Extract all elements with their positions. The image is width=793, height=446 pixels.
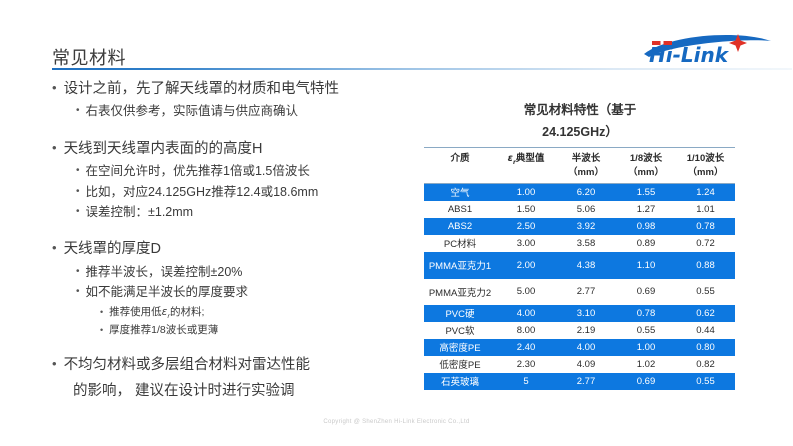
bullet-reference-table: • 右表仅供参考，实际值请与供应商确认 xyxy=(76,102,412,121)
col-header-eighth-wavelength-unit: （mm） xyxy=(628,167,664,178)
table-row: PVC软8.002.190.550.44 xyxy=(424,322,735,339)
bullet-dot-icon: • xyxy=(76,106,80,116)
bullet-dot-icon: • xyxy=(52,81,57,94)
cell-eighth-wavelength: 1.00 xyxy=(616,339,676,356)
col-header-tenth-wavelength-unit: （mm） xyxy=(688,167,724,178)
page-title: 常见材料 xyxy=(52,44,126,70)
spacer xyxy=(52,339,412,354)
col-header-eighth-wavelength: 1/8波长 （mm） xyxy=(616,148,676,184)
table-row: PMMA亚克力25.002.770.690.55 xyxy=(424,279,735,305)
copyright-footer: Copyright @ ShenZhen Hi-Link Electronic … xyxy=(0,419,793,425)
bullet-eighth-wavelength: • 厚度推荐1/8波长或更薄 xyxy=(100,322,412,338)
col-header-tenth-wavelength-label: 1/10波长 xyxy=(687,153,725,164)
cell-eighth-wavelength: 0.69 xyxy=(616,373,676,390)
table-row: 高密度PE2.404.001.000.80 xyxy=(424,339,735,356)
material-properties-table: 介质 εr典型值 半波长 （mm） 1/8波长 （mm） 1/10波长 （mm）… xyxy=(424,147,735,390)
cell-tenth-wavelength: 1.24 xyxy=(676,183,735,201)
title-underline-rule xyxy=(52,68,792,70)
cell-half-wavelength: 3.10 xyxy=(556,305,616,322)
bullet-low-er-material: • 推荐使用低εr的材料; xyxy=(100,304,412,321)
col-header-eighth-wavelength-label: 1/8波长 xyxy=(630,153,662,164)
slide: 常见材料 Hi-Link • 设计之前，先了解天线罩的材质和电气特性 • 右表仅… xyxy=(0,0,793,446)
cell-er: 1.00 xyxy=(496,183,556,201)
cell-er: 2.40 xyxy=(496,339,556,356)
low-er-suffix: 的材料; xyxy=(170,306,204,318)
cell-half-wavelength: 6.20 xyxy=(556,183,616,201)
cell-eighth-wavelength: 0.55 xyxy=(616,322,676,339)
cell-er: 4.00 xyxy=(496,305,556,322)
col-header-half-wavelength-unit: （mm） xyxy=(568,167,604,178)
spacer xyxy=(52,223,412,238)
bullet-dot-icon: • xyxy=(76,187,80,197)
cell-material-name: 高密度PE xyxy=(424,339,496,356)
cell-tenth-wavelength: 0.82 xyxy=(676,356,735,373)
bullet-nonuniform-material-line2: 的影响， 建议在设计时进行实验调 xyxy=(73,379,412,404)
col-header-medium: 介质 xyxy=(424,148,496,184)
cell-material-name: PMMA亚克力2 xyxy=(424,279,496,305)
col-header-er-label: 典型值 xyxy=(516,153,545,164)
col-header-er: εr典型值 xyxy=(496,148,556,184)
bullet-design-intro: • 设计之前，先了解天线罩的材质和电气特性 xyxy=(52,78,412,100)
cell-eighth-wavelength: 1.02 xyxy=(616,356,676,373)
cell-eighth-wavelength: 0.78 xyxy=(616,305,676,322)
cell-half-wavelength: 3.92 xyxy=(556,218,616,235)
spacer xyxy=(52,123,412,138)
cell-tenth-wavelength: 1.01 xyxy=(676,201,735,218)
table-row: PVC硬4.003.100.780.62 xyxy=(424,305,735,322)
bullet-half-wavelength: • 推荐半波长，误差控制±20% xyxy=(76,263,412,282)
epsilon-r-symbol: εr xyxy=(162,306,170,318)
bullet-height-h: • 天线到天线罩内表面的的高度H xyxy=(52,138,412,160)
cell-material-name: PC材料 xyxy=(424,235,496,252)
bullet-freq-example: • 比如，对应24.125GHz推荐12.4或18.6mm xyxy=(76,183,412,202)
cell-eighth-wavelength: 0.89 xyxy=(616,235,676,252)
bullet-dot-icon: • xyxy=(100,326,103,335)
bullet-dot-icon: • xyxy=(76,287,80,297)
cell-material-name: PVC硬 xyxy=(424,305,496,322)
epsilon-r-symbol: εr xyxy=(508,153,516,164)
cell-material-name: PVC软 xyxy=(424,322,496,339)
table-row: 低密度PE2.304.091.020.82 xyxy=(424,356,735,373)
bullet-dot-icon: • xyxy=(76,207,80,217)
cell-tenth-wavelength: 0.55 xyxy=(676,373,735,390)
cell-material-name: PMMA亚克力1 xyxy=(424,252,496,279)
cell-material-name: 低密度PE xyxy=(424,356,496,373)
cell-material-name: ABS2 xyxy=(424,218,496,235)
bullet-dot-icon: • xyxy=(76,166,80,176)
content-body: • 设计之前，先了解天线罩的材质和电气特性 • 右表仅供参考，实际值请与供应商确… xyxy=(52,78,412,403)
bullet-cannot-meet: • 如不能满足半波长的厚度要求 xyxy=(76,283,412,302)
bullet-space-allows: • 在空间允许时，优先推荐1倍或1.5倍波长 xyxy=(76,162,412,181)
bullet-dot-icon: • xyxy=(76,267,80,277)
table-title: 常见材料特性（基于 24.125GHz） xyxy=(424,100,736,144)
table-row: ABS11.505.061.271.01 xyxy=(424,201,735,218)
cell-material-name: ABS1 xyxy=(424,201,496,218)
table-row: PMMA亚克力12.004.381.100.88 xyxy=(424,252,735,279)
cell-half-wavelength: 2.77 xyxy=(556,373,616,390)
col-header-half-wavelength: 半波长 （mm） xyxy=(556,148,616,184)
cell-tenth-wavelength: 0.80 xyxy=(676,339,735,356)
table-title-line2: 24.125GHz） xyxy=(424,122,736,144)
bullet-dot-icon: • xyxy=(52,141,57,154)
low-er-prefix: 推荐使用低 xyxy=(109,306,162,318)
cell-material-name: 石英玻璃 xyxy=(424,373,496,390)
table-body: 空气1.006.201.551.24ABS11.505.061.271.01AB… xyxy=(424,183,735,390)
cell-half-wavelength: 2.77 xyxy=(556,279,616,305)
bullet-tolerance: • 误差控制：±1.2mm xyxy=(76,203,412,222)
cell-material-name: 空气 xyxy=(424,183,496,201)
cell-half-wavelength: 4.09 xyxy=(556,356,616,373)
bullet-nonuniform-material: • 不均匀材料或多层组合材料对雷达性能 xyxy=(52,354,412,376)
table-row: PC材料3.003.580.890.72 xyxy=(424,235,735,252)
cell-tenth-wavelength: 0.62 xyxy=(676,305,735,322)
cell-eighth-wavelength: 1.27 xyxy=(616,201,676,218)
cell-tenth-wavelength: 0.55 xyxy=(676,279,735,305)
bullet-dot-icon: • xyxy=(100,308,103,317)
cell-eighth-wavelength: 0.69 xyxy=(616,279,676,305)
cell-er: 5.00 xyxy=(496,279,556,305)
table-row: 空气1.006.201.551.24 xyxy=(424,183,735,201)
col-header-half-wavelength-label: 半波长 xyxy=(572,153,601,164)
hi-link-logo: Hi-Link xyxy=(640,31,775,65)
col-header-tenth-wavelength: 1/10波长 （mm） xyxy=(676,148,735,184)
cell-tenth-wavelength: 0.72 xyxy=(676,235,735,252)
cell-er: 8.00 xyxy=(496,322,556,339)
cell-er: 2.50 xyxy=(496,218,556,235)
cell-eighth-wavelength: 1.55 xyxy=(616,183,676,201)
cell-half-wavelength: 3.58 xyxy=(556,235,616,252)
cell-tenth-wavelength: 0.78 xyxy=(676,218,735,235)
bullet-dot-icon: • xyxy=(52,241,57,254)
cell-tenth-wavelength: 0.88 xyxy=(676,252,735,279)
cell-half-wavelength: 4.00 xyxy=(556,339,616,356)
cell-eighth-wavelength: 1.10 xyxy=(616,252,676,279)
cell-er: 1.50 xyxy=(496,201,556,218)
cell-er: 3.00 xyxy=(496,235,556,252)
cell-tenth-wavelength: 0.44 xyxy=(676,322,735,339)
cell-er: 5 xyxy=(496,373,556,390)
bullet-dot-icon: • xyxy=(52,357,57,370)
svg-text:Hi-Link: Hi-Link xyxy=(649,43,730,65)
cell-er: 2.30 xyxy=(496,356,556,373)
cell-eighth-wavelength: 0.98 xyxy=(616,218,676,235)
cell-half-wavelength: 2.19 xyxy=(556,322,616,339)
table-row: 石英玻璃52.770.690.55 xyxy=(424,373,735,390)
bullet-thickness-d: • 天线罩的厚度D xyxy=(52,238,412,260)
table-row: ABS22.503.920.980.78 xyxy=(424,218,735,235)
cell-half-wavelength: 5.06 xyxy=(556,201,616,218)
cell-half-wavelength: 4.38 xyxy=(556,252,616,279)
table-header-row: 介质 εr典型值 半波长 （mm） 1/8波长 （mm） 1/10波长 （mm） xyxy=(424,148,735,184)
cell-er: 2.00 xyxy=(496,252,556,279)
table-title-line1: 常见材料特性（基于 xyxy=(424,100,736,122)
